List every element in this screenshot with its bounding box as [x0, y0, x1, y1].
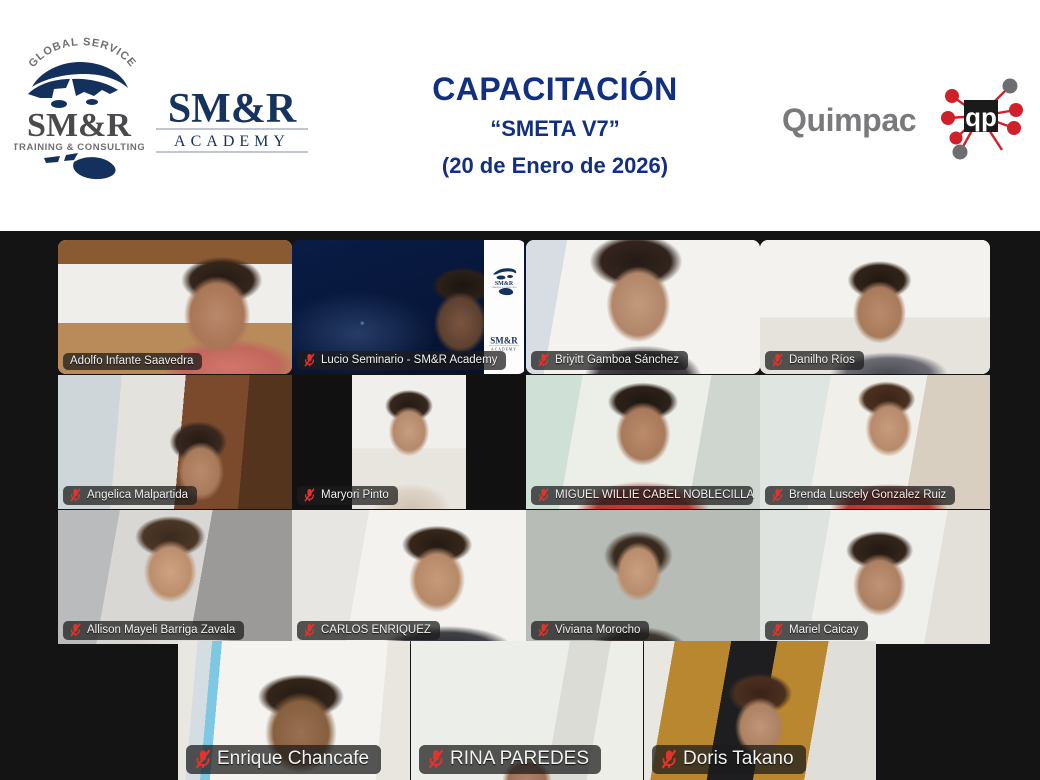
participant-nameplate: RINA PAREDES [419, 745, 601, 774]
participant-nameplate: Danilho Ríos [765, 351, 864, 370]
participant-name: Maryori Pinto [321, 489, 389, 501]
participant-tile[interactable]: Briyitt Gamboa Sánchez [526, 240, 760, 374]
title-block: CAPACITACIÓN “SMETA V7” (20 de Enero de … [330, 72, 780, 179]
participant-tile[interactable]: MIGUEL WILLIE CABEL NOBLECILLA [526, 375, 760, 509]
participant-nameplate: Briyitt Gamboa Sánchez [531, 351, 688, 370]
participant-tile[interactable]: RINA PAREDES [411, 641, 643, 780]
svg-text:SM&R: SM&R [27, 107, 131, 144]
participant-name: CARLOS ENRIQUEZ [321, 624, 431, 636]
participant-name: Adolfo Infante Saavedra [70, 355, 193, 367]
participant-nameplate: Brenda Luscely Gonzalez Ruiz [765, 486, 955, 505]
microphone-muted-icon [70, 488, 81, 502]
smr-academy-logo: SM&R ACADEMY [148, 82, 316, 154]
participant-nameplate: Adolfo Infante Saavedra [63, 353, 202, 370]
page-date: (20 de Enero de 2026) [330, 153, 780, 179]
microphone-muted-icon [304, 353, 315, 367]
participant-tile[interactable]: Viviana Morocho [526, 510, 760, 644]
participant-tile[interactable]: Angelica Malpartida [58, 375, 292, 509]
participant-nameplate: Allison Mayeli Barriga Zavala [63, 621, 244, 640]
microphone-muted-icon [772, 623, 783, 637]
page-title: CAPACITACIÓN [330, 72, 780, 107]
microphone-muted-icon [195, 749, 211, 769]
participant-nameplate: Angelica Malpartida [63, 486, 197, 505]
participant-tile[interactable]: Enrique Chancafe [178, 641, 410, 780]
svg-text:ACADEMY: ACADEMY [174, 133, 290, 150]
participant-name: Angelica Malpartida [87, 489, 188, 501]
participant-tile[interactable]: SM&RTRAINING & CONSULTING SM&RACADEMY Lu… [292, 240, 526, 374]
quimpac-molecule-icon: qp [930, 66, 1030, 166]
participant-tile[interactable]: Maryori Pinto [292, 375, 526, 509]
participant-nameplate: Viviana Morocho [531, 621, 649, 640]
microphone-muted-icon [538, 353, 549, 367]
microphone-muted-icon [661, 749, 677, 769]
svg-text:TRAINING & CONSULTING: TRAINING & CONSULTING [14, 142, 144, 153]
participant-nameplate: CARLOS ENRIQUEZ [297, 621, 440, 640]
page-subtitle: “SMETA V7” [330, 116, 780, 142]
microphone-muted-icon [772, 353, 783, 367]
participant-tile[interactable]: Doris Takano [644, 641, 876, 780]
participant-tile[interactable]: Allison Mayeli Barriga Zavala [58, 510, 292, 644]
svg-text:SM&R: SM&R [495, 281, 514, 287]
participant-nameplate: Doris Takano [652, 745, 806, 774]
microphone-muted-icon [538, 623, 549, 637]
participant-nameplate: Lucio Seminario - SM&R Academy [297, 351, 506, 370]
participant-name: Enrique Chancafe [217, 748, 369, 770]
participant-tile[interactable]: Danilho Ríos [760, 240, 990, 374]
microphone-muted-icon [428, 749, 444, 769]
svg-text:SM&R: SM&R [490, 335, 518, 345]
quimpac-logo: Quimpac qp [782, 88, 1027, 164]
participant-tile[interactable]: Brenda Luscely Gonzalez Ruiz [760, 375, 990, 509]
participant-nameplate: Maryori Pinto [297, 486, 398, 505]
participant-name: Brenda Luscely Gonzalez Ruiz [789, 489, 946, 501]
participant-name: RINA PAREDES [450, 748, 589, 770]
participant-name: MIGUEL WILLIE CABEL NOBLECILLA [555, 489, 754, 501]
participant-name: Viviana Morocho [555, 624, 640, 636]
microphone-muted-icon [772, 488, 783, 502]
microphone-muted-icon [304, 623, 315, 637]
svg-text:SM&R: SM&R [168, 86, 297, 132]
header-banner: GLOBAL SERVICES SM&R TRAINING & CONSULTI… [0, 0, 1040, 231]
participant-name: Mariel Caicay [789, 624, 859, 636]
meeting-screenshot: GLOBAL SERVICES SM&R TRAINING & CONSULTI… [0, 0, 1040, 780]
quimpac-wordmark: Quimpac [782, 102, 916, 139]
participant-nameplate: Enrique Chancafe [186, 745, 381, 774]
microphone-muted-icon [538, 488, 549, 502]
participant-tile[interactable]: CARLOS ENRIQUEZ [292, 510, 526, 644]
participant-tile[interactable]: Mariel Caicay [760, 510, 990, 644]
participant-name: Lucio Seminario - SM&R Academy [321, 354, 497, 366]
participant-name: Briyitt Gamboa Sánchez [555, 354, 679, 366]
smr-global-services-logo: GLOBAL SERVICES SM&R TRAINING & CONSULTI… [14, 32, 144, 180]
svg-text:qp: qp [965, 102, 997, 132]
microphone-muted-icon [304, 488, 315, 502]
participant-nameplate: Mariel Caicay [765, 621, 868, 640]
participant-name: Doris Takano [683, 748, 794, 770]
participant-nameplate: MIGUEL WILLIE CABEL NOBLECILLA [531, 486, 753, 505]
participant-tile[interactable]: Adolfo Infante Saavedra [58, 240, 292, 374]
participant-name: Allison Mayeli Barriga Zavala [87, 624, 235, 636]
pillarbox-right [466, 375, 526, 509]
video-grid: Adolfo Infante Saavedra SM&RTRAINING & C… [0, 231, 1040, 780]
microphone-muted-icon [70, 623, 81, 637]
participant-name: Danilho Ríos [789, 354, 855, 366]
